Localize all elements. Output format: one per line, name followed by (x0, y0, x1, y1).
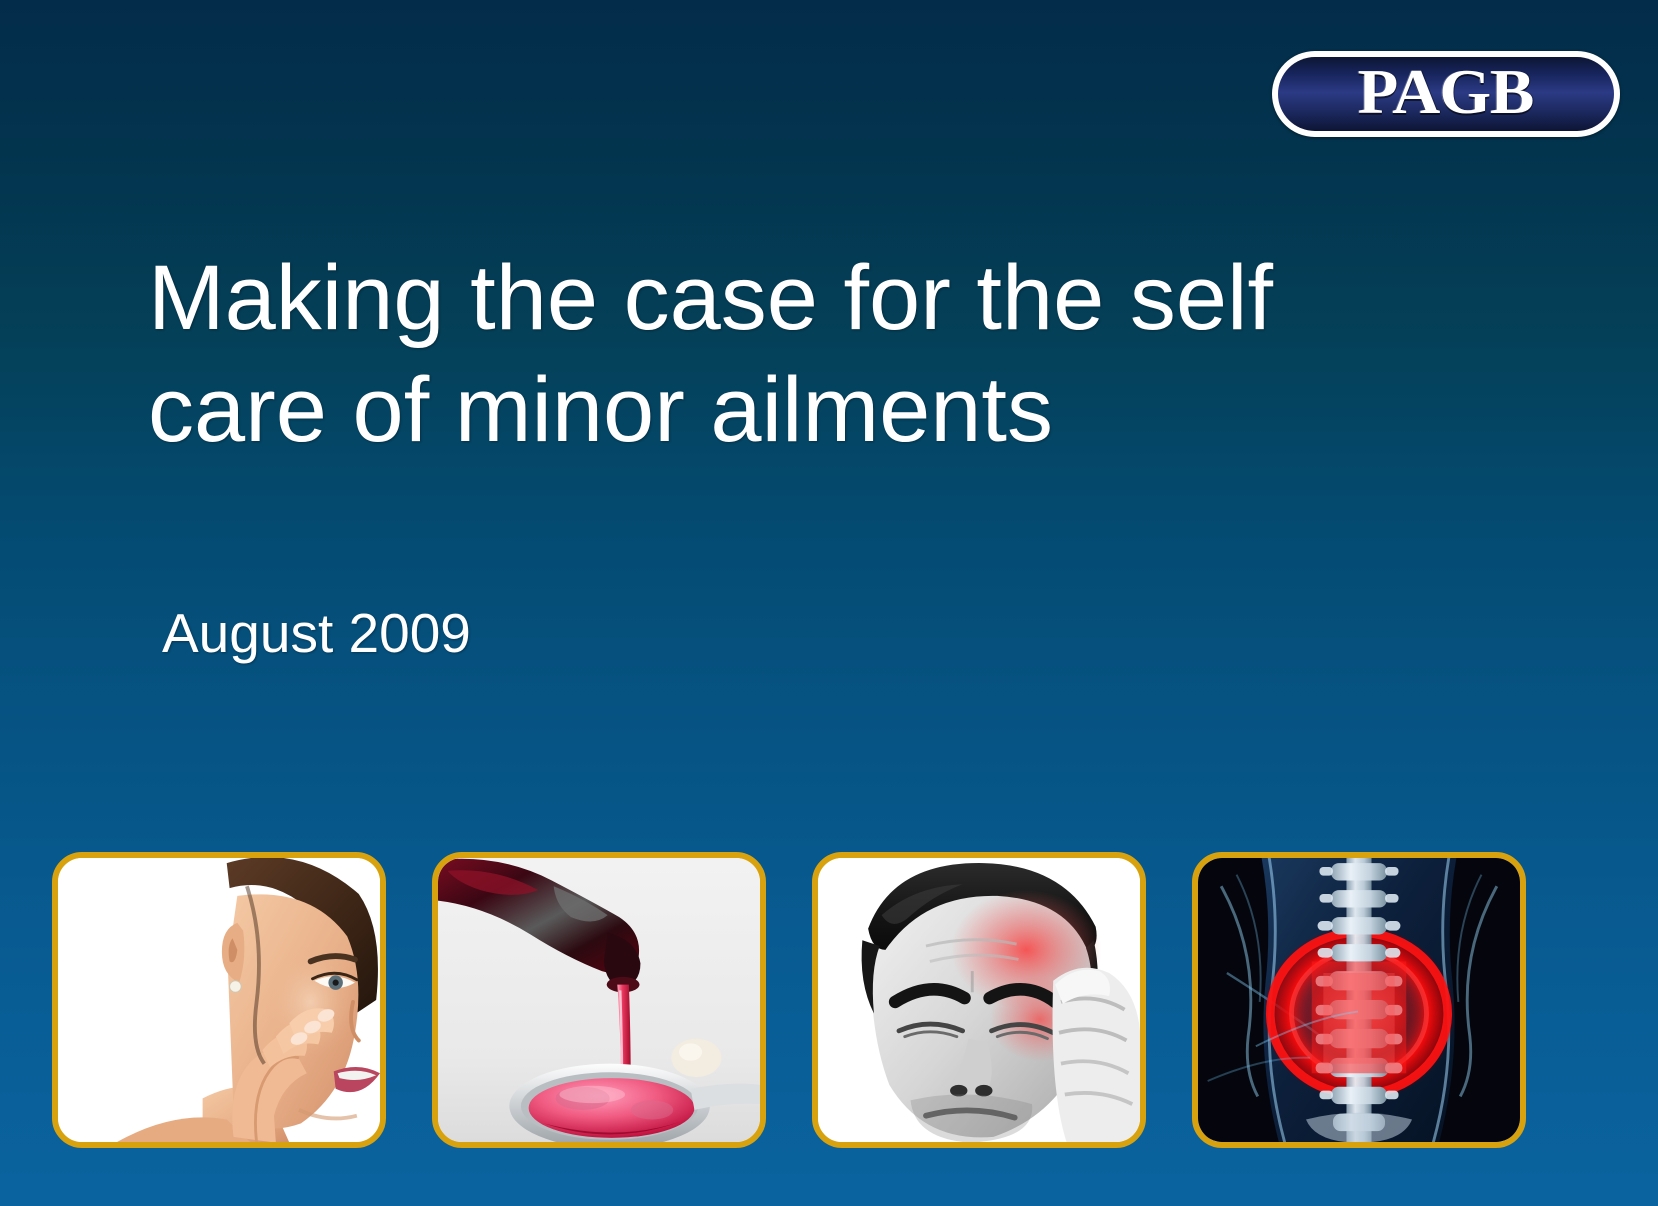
presentation-slide: PAGB Making the case for the self care o… (0, 0, 1658, 1206)
pagb-logo-text: PAGB (1358, 60, 1534, 128)
headache-photo (818, 858, 1140, 1142)
back-pain-xray-photo (1198, 858, 1520, 1142)
pagb-logo: PAGB (1272, 51, 1620, 137)
thumbnail-headache (812, 852, 1146, 1148)
page-title: Making the case for the self care of min… (148, 242, 1468, 466)
pagb-logo-badge: PAGB (1278, 57, 1614, 131)
thumbnail-toothache (52, 852, 386, 1148)
slide-date: August 2009 (162, 600, 471, 666)
thumbnail-back-pain (1192, 852, 1526, 1148)
medicine-pouring-photo (438, 858, 760, 1142)
title-line-2: care of minor ailments (148, 354, 1468, 466)
thumbnail-medicine (432, 852, 766, 1148)
title-line-1: Making the case for the self (148, 242, 1468, 354)
toothache-photo (58, 858, 380, 1142)
